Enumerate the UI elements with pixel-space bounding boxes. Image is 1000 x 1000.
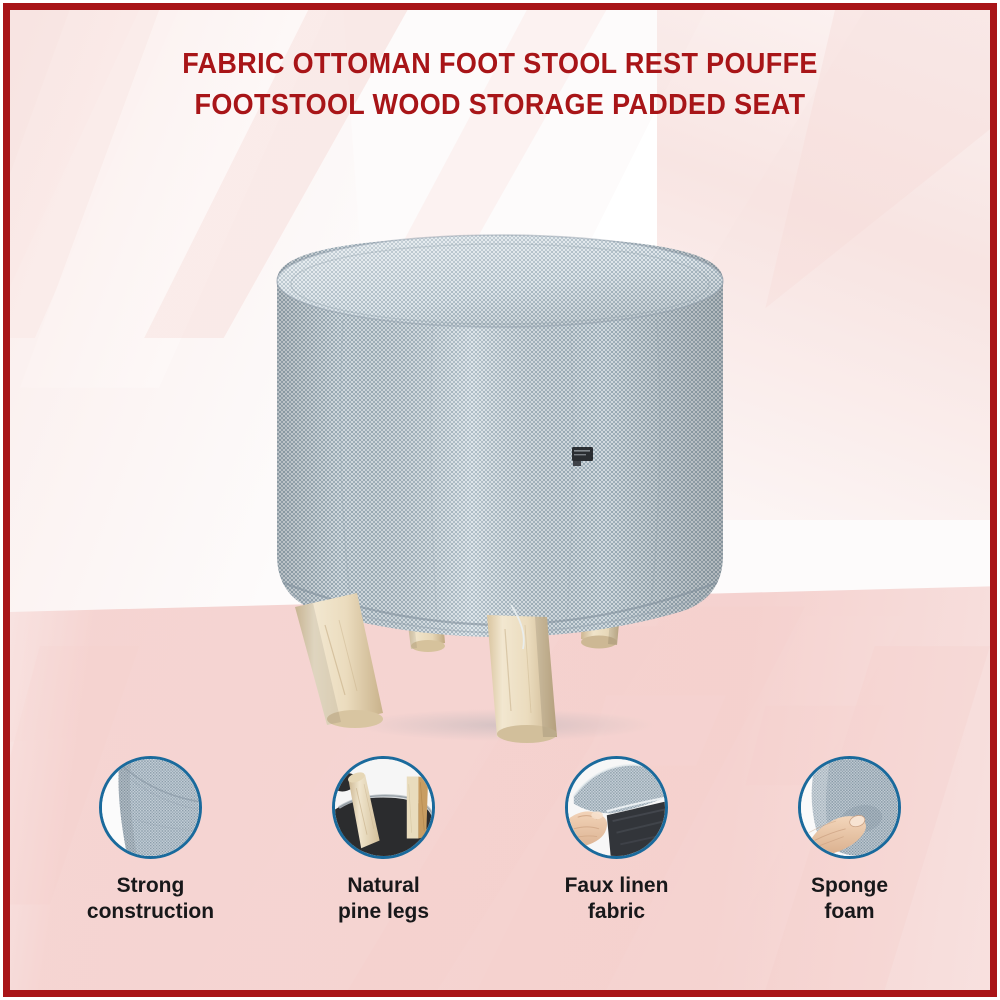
feature-item-natural-pine-legs[interactable]: Natural pine legs: [267, 756, 500, 956]
faux-linen-fabric-thumb[interactable]: [565, 756, 668, 859]
feature-item-strong-construction[interactable]: Strong construction: [34, 756, 267, 956]
page-title: FABRIC OTTOMAN FOOT STOOL REST POUFFE FO…: [10, 44, 990, 126]
feature-strip: Strong construction: [34, 756, 966, 956]
ottoman-body-closeup-thumb[interactable]: [99, 756, 202, 859]
ottoman-illustration: [265, 225, 735, 745]
sponge-foam-press-thumb[interactable]: [798, 756, 901, 859]
feature-label: Faux linen fabric: [565, 873, 669, 925]
title-text: FABRIC OTTOMAN FOOT STOOL REST POUFFE FO…: [44, 44, 955, 126]
feature-label: Sponge foam: [811, 873, 888, 925]
pine-legs-underside-art: [335, 759, 432, 856]
feature-item-faux-linen-fabric[interactable]: Faux linen fabric: [500, 756, 733, 956]
feature-item-sponge-foam[interactable]: Sponge foam: [733, 756, 966, 956]
feature-label: Natural pine legs: [338, 873, 429, 925]
ottoman-body-closeup-art: [102, 759, 199, 856]
red-border-frame: FABRIC OTTOMAN FOOT STOOL REST POUFFE FO…: [3, 3, 997, 997]
hero-product-image: [265, 225, 735, 745]
sponge-foam-press-art: [801, 759, 898, 856]
feature-label: Strong construction: [87, 873, 214, 925]
product-banner: FABRIC OTTOMAN FOOT STOOL REST POUFFE FO…: [0, 0, 1000, 1000]
pine-legs-underside-thumb[interactable]: [332, 756, 435, 859]
ottoman-body: [265, 225, 735, 645]
faux-linen-fabric-art: [568, 759, 665, 856]
